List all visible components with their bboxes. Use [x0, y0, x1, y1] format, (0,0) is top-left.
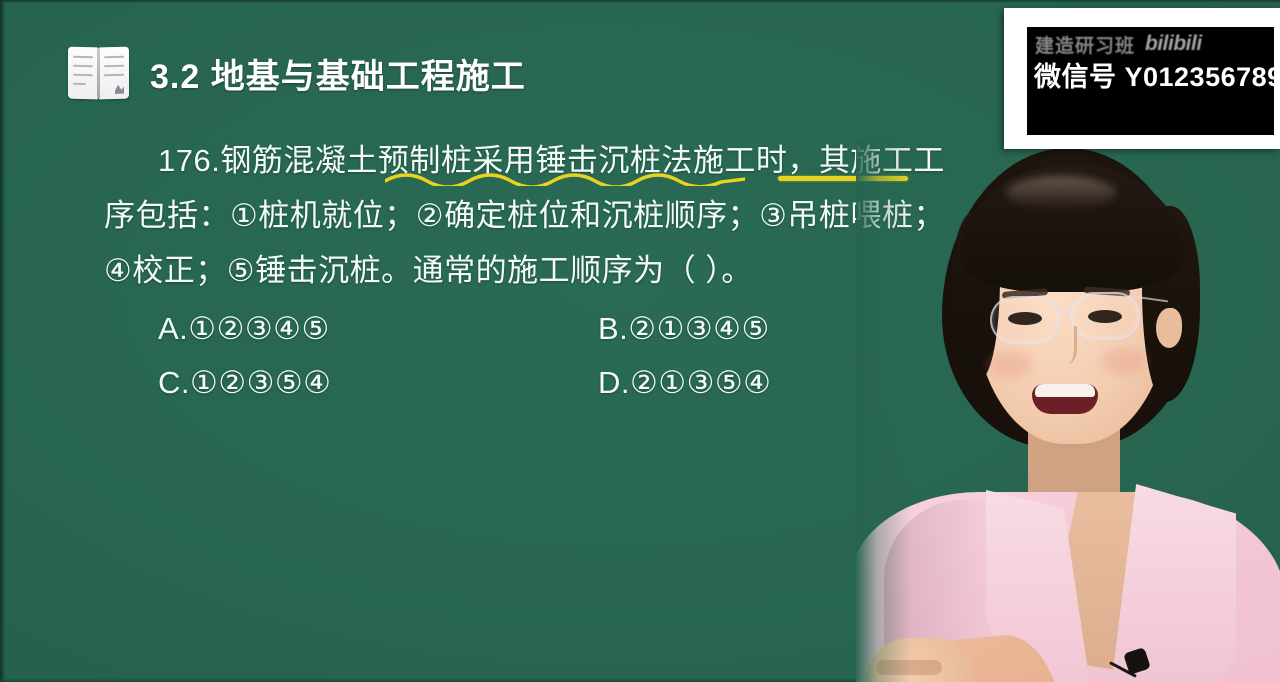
presenter-hair-sheen — [1006, 176, 1116, 210]
option-row-cd: C.①②③⑤④ D.②①③⑤④ — [158, 356, 818, 410]
page-title: 3.2 地基与基础工程施工 — [150, 49, 526, 98]
board-edge-left — [0, 0, 5, 682]
question-line-3: ④校正；⑤锤击沉桩。通常的施工顺序为（ ）。 — [104, 243, 934, 298]
open-book-icon — [66, 44, 132, 102]
presenter-blush-right — [1102, 348, 1146, 374]
presenter-nose — [1054, 326, 1077, 364]
watermark-inner-box: 建造研习班 bilibili 微信号 Y012356789S — [1027, 27, 1274, 135]
watermark-wechat-id: 微信号 Y012356789S — [1034, 55, 1272, 94]
answer-options: A.①②③④⑤ B.②①③④⑤ C.①②③⑤④ D.②①③⑤④ — [158, 302, 818, 410]
question-text: 176.钢筋混凝土预制桩采用锤击沉桩法施工时，其施工工 序包括：①桩机就位；②确… — [104, 133, 934, 298]
option-a[interactable]: A.①②③④⑤ — [158, 302, 598, 356]
section-heading: 3.2 地基与基础工程施工 — [66, 44, 526, 102]
option-d[interactable]: D.②①③⑤④ — [598, 356, 771, 410]
presenter-mouth — [1032, 384, 1098, 414]
presenter-finger — [876, 660, 942, 675]
presenter-video-overlay — [856, 140, 1280, 682]
watermark-brand-name: 建造研习班 — [1035, 31, 1135, 58]
option-row-ab: A.①②③④⑤ B.②①③④⑤ — [158, 302, 818, 356]
option-c[interactable]: C.①②③⑤④ — [158, 356, 598, 410]
eyeglasses-lens-left — [990, 296, 1060, 344]
option-b[interactable]: B.②①③④⑤ — [598, 302, 770, 356]
question-line-2: 序包括：①桩机就位；②确定桩位和沉桩顺序；③吊桩喂桩； — [104, 188, 934, 243]
presenter-ear — [1156, 308, 1182, 348]
watermark-overlay: 建造研习班 bilibili 微信号 Y012356789S — [1004, 8, 1280, 149]
lecture-video-frame: 3.2 地基与基础工程施工 176.钢筋混凝土预制桩采用锤击沉桩法施工时，其施工… — [0, 0, 1280, 682]
eyeglasses-bridge — [1055, 308, 1073, 310]
presenter-blush-left — [988, 352, 1032, 378]
board-edge-top — [0, 0, 1280, 3]
wavy-underline-annotation — [385, 172, 745, 186]
bilibili-logo: bilibili — [1145, 32, 1202, 56]
eyeglasses-lens-right — [1070, 292, 1140, 340]
